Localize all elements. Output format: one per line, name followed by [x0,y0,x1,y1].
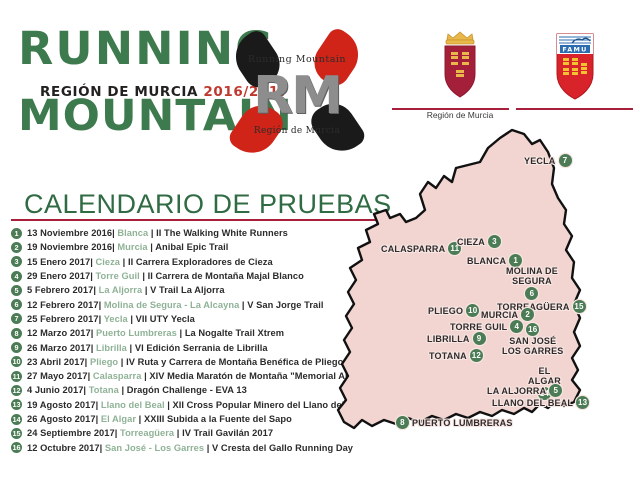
event-number-badge: 9 [11,342,22,353]
separator: | [204,443,212,453]
crest-region-de-murcia: Región de Murcia [405,28,515,120]
separator: | [142,285,150,295]
crest-murcia-svg [405,28,515,102]
poster-canvas: RUNNING REGIÓN DE MURCIA 2016/2017 MOUNT… [0,0,640,480]
separator: | [127,343,135,353]
logo-line-running: RUNNING [18,26,237,72]
header-rule-right [516,108,633,110]
separator: | [174,428,182,438]
map-marker-badge: 9 [473,332,486,345]
event-place: Librilla [96,343,127,353]
map-marker-badge: 13 [576,396,589,409]
running-mountain-wordmark: RUNNING REGIÓN DE MURCIA 2016/2017 MOUNT… [18,26,233,156]
event-number-badge: 2 [11,242,22,253]
event-text: 15 Enero 2017| Cieza | II Carrera Explor… [27,257,273,267]
event-date: 5 Febrero 2017 [27,285,93,295]
event-text: 5 Febrero 2017| La Aljorra | V Trail La … [27,285,225,295]
separator: | [140,271,148,281]
event-date: 4 Junio 2017 [27,385,83,395]
event-name: VII UTY Yecla [136,314,195,324]
separator: | [128,314,136,324]
separator: | [148,228,156,238]
event-name: VI Edición Serrania de Librilla [135,343,268,353]
event-number-badge: 1 [11,228,22,239]
map-marker-label-2: SEGURA [512,276,552,286]
event-number-badge: 15 [11,428,22,439]
map-marker[interactable]: CIEZA3 [457,235,501,248]
event-text: 19 Agosto 2017| Llano del Beal | XII Cro… [27,400,367,410]
map-marker-label: YECLA [524,156,556,166]
event-name: II The Walking White Runners [156,228,288,238]
map-marker[interactable]: TOTANA12 [429,349,483,362]
murcia-map: YECLA7CALASPARRA11CIEZA3BLANCA1MOLINA DE… [328,118,640,480]
event-text: 12 Febrero 2017| Molina de Segura - La A… [27,300,324,310]
event-number-badge: 12 [11,385,22,396]
map-marker-label: MURCIA [481,310,518,320]
map-marker-label: CIEZA [457,237,485,247]
event-date: 19 Noviembre 2016 [27,242,112,252]
separator: | [165,400,173,410]
crest-famu-text: FAMU [562,46,587,54]
crest-famu: FAMU [520,28,630,107]
event-name: La Nogalte Trail Xtrem [185,328,284,338]
event-number-badge: 16 [11,442,22,453]
event-text: 26 Marzo 2017| Librilla | VI Edición Ser… [27,343,268,353]
map-marker-label: SAN JOSÉ [509,336,556,346]
event-number-badge: 3 [11,256,22,267]
event-date: 26 Agosto 2017 [27,414,96,424]
map-marker[interactable]: PLIEGO10 [428,304,479,317]
map-marker-label-2: LOS GARRES [502,346,564,356]
map-marker-label: MOLINA DE [506,266,558,276]
separator: | [120,257,128,267]
event-number-badge: 10 [11,356,22,367]
map-marker[interactable]: MOLINA DESEGURA6 [506,266,558,300]
map-marker-label: EL [539,366,551,376]
event-text: 24 Septiembre 2017| Torreagüera | IV Tra… [27,428,273,438]
map-marker[interactable]: YECLA7 [524,154,572,167]
map-marker-badge: 6 [525,287,538,300]
event-place: Yecla [104,314,128,324]
event-place: Calasparra [93,371,142,381]
event-name: V San Jorge Trail [247,300,323,310]
event-date: 29 Enero 2017 [27,271,90,281]
event-place: Cieza [95,257,120,267]
event-name: XXIII Subida a la Fuente del Sapo [144,414,292,424]
event-name: Dragón Challenge - EVA 13 [127,385,247,395]
event-place: Blanca [117,228,148,238]
event-number-badge: 13 [11,399,22,410]
crest-famu-svg: FAMU [520,28,630,102]
separator: | [119,385,127,395]
map-marker-label: LIBRILLA [427,334,470,344]
event-date: 25 Febrero 2017 [27,314,99,324]
map-marker-badge: 7 [559,154,572,167]
event-text: 23 Abril 2017| Pliego | IV Ruta y Carrer… [27,357,343,367]
event-place: Pliego [90,357,118,367]
map-marker-label: BLANCA [467,256,506,266]
event-place: Llano del Beal [101,400,165,410]
event-date: 12 Octubre 2017 [27,443,100,453]
map-marker-label: LA ALJORRA [487,386,546,396]
event-name: IV Trail Gavilán 2017 [182,428,273,438]
map-marker[interactable]: 8PUERTO LUMBRERAS [396,416,513,429]
map-marker-label: TOTANA [429,351,467,361]
event-place: Puerto Lumbreras [96,328,177,338]
map-marker-badge: 12 [470,349,483,362]
event-number-badge: 11 [11,371,22,382]
emblem-arc-text: Running Mountain [231,54,363,65]
map-marker-label: PLIEGO [428,306,463,316]
event-date: 12 Marzo 2017 [27,328,91,338]
event-date: 19 Agosto 2017 [27,400,96,410]
map-marker-badge: 8 [396,416,409,429]
map-marker-badge: 10 [466,304,479,317]
logo-line-mountain: MOUNTAIN [18,93,237,139]
event-date: 26 Marzo 2017 [27,343,91,353]
map-marker-label: CALASPARRA [381,244,445,254]
emblem-initials: RM [231,70,363,122]
event-place: Torreagüera [120,428,174,438]
event-place: La Aljorra [99,285,143,295]
event-name: V Trail La Aljorra [150,285,224,295]
event-place: Totana [89,385,119,395]
event-number-badge: 14 [11,414,22,425]
map-marker[interactable]: LLANO DEL BEAL13 [492,396,589,409]
event-name: IV Ruta y Carrera de Montaña Benéfica de… [126,357,343,367]
event-place: El Algar [101,414,136,424]
event-date: 13 Noviembre 2016 [27,228,112,238]
event-place: Molina de Segura - La Alcayna [104,300,239,310]
event-number-badge: 6 [11,299,22,310]
event-name: II Carrera Exploradores de Cieza [128,257,273,267]
map-marker-label: TORRE GUIL [450,322,507,332]
event-number-badge: 4 [11,271,22,282]
event-date: 24 Septiembre 2017 [27,428,115,438]
event-text: 25 Febrero 2017| Yecla | VII UTY Yecla [27,314,195,324]
event-text: 12 Marzo 2017| Puerto Lumbreras | La Nog… [27,328,284,338]
separator: | [118,357,126,367]
event-date: 27 Mayo 2017 [27,371,88,381]
event-text: 4 Junio 2017| Totana | Dragón Challenge … [27,385,247,395]
event-text: 26 Agosto 2017| El Algar | XXIII Subida … [27,414,292,424]
separator: | [177,328,185,338]
separator: | [136,414,144,424]
event-date: 15 Enero 2017 [27,257,90,267]
map-marker[interactable]: LIBRILLA9 [427,332,486,345]
map-marker-badge: 16 [526,323,539,336]
event-date: 23 Abril 2017 [27,357,85,367]
event-name: Anibal Epic Trail [155,242,228,252]
map-marker[interactable]: CALASPARRA11 [381,242,461,255]
event-name: II Carrera de Montaña Majal Blanco [148,271,304,281]
event-text: 19 Noviembre 2016| Murcia | Anibal Epic … [27,242,228,252]
event-number-badge: 7 [11,313,22,324]
header-rule-left [392,108,509,110]
event-text: 13 Noviembre 2016| Blanca | II The Walki… [27,228,288,238]
map-marker-label: PUERTO LUMBRERAS [412,418,513,428]
event-date: 12 Febrero 2017 [27,300,99,310]
event-text: 29 Enero 2017| Torre Guil | II Carrera d… [27,271,304,281]
event-text: 12 Octubre 2017| San José - Los Garres |… [27,443,353,453]
map-marker-badge: 15 [573,300,586,313]
event-number-badge: 8 [11,328,22,339]
event-place: San José - Los Garres [105,443,204,453]
event-place: Torre Guil [95,271,139,281]
event-place: Murcia [117,242,147,252]
map-marker-label: LLANO DEL BEAL [492,398,573,408]
map-marker-badge: 3 [488,235,501,248]
event-number-badge: 5 [11,285,22,296]
map-marker[interactable]: 16SAN JOSÉLOS GARRES [502,322,564,356]
